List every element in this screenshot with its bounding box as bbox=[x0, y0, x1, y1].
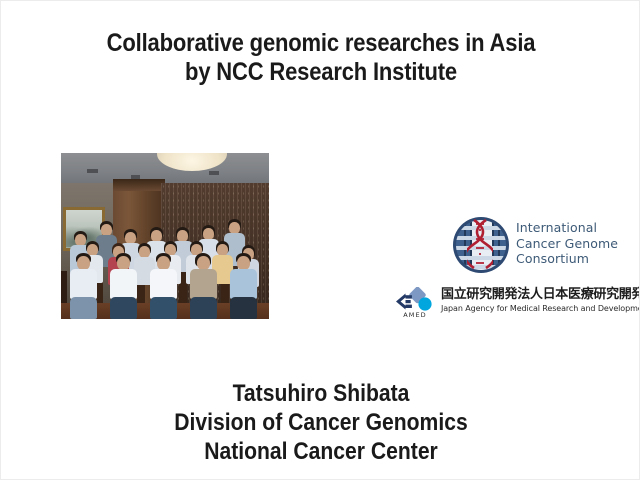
speaker-name: Tatsuhiro Shibata bbox=[39, 379, 602, 408]
presentation-slide: Collaborative genomic researches in Asia… bbox=[0, 0, 640, 480]
icgc-line-3: Consortium bbox=[516, 251, 618, 267]
icgc-wordmark: International Cancer Genome Consortium bbox=[516, 220, 618, 267]
speaker-institution: National Cancer Center bbox=[39, 437, 602, 466]
amed-logo: AMED 国立研究開発法人日本医療研究開発機構 Japan Agency for… bbox=[391, 287, 621, 323]
title-line-2: by NCC Research Institute bbox=[39, 58, 602, 87]
slide-title: Collaborative genomic researches in Asia… bbox=[1, 29, 640, 87]
title-line-1: Collaborative genomic researches in Asia bbox=[39, 29, 602, 58]
photo-ceiling-vent bbox=[87, 169, 98, 173]
amed-japanese-name: 国立研究開発法人日本医療研究開発機構 bbox=[441, 287, 621, 303]
group-photo bbox=[61, 153, 269, 319]
speaker-info: Tatsuhiro Shibata Division of Cancer Gen… bbox=[1, 379, 640, 466]
icgc-line-2: Cancer Genome bbox=[516, 236, 618, 252]
speaker-division: Division of Cancer Genomics bbox=[39, 408, 602, 437]
photo-ceiling-vent bbox=[209, 171, 219, 175]
icgc-logo: International Cancer Genome Consortium bbox=[453, 215, 621, 277]
icgc-line-1: International bbox=[516, 220, 618, 236]
amed-wordmark: 国立研究開発法人日本医療研究開発機構 Japan Agency for Medi… bbox=[441, 287, 621, 314]
icgc-globe-icon bbox=[453, 217, 509, 273]
amed-english-name: Japan Agency for Medical Research and De… bbox=[441, 303, 621, 314]
dna-helix-icon bbox=[467, 219, 493, 271]
photo-wood-bevel bbox=[113, 179, 165, 191]
amed-mark-label: AMED bbox=[393, 311, 437, 319]
